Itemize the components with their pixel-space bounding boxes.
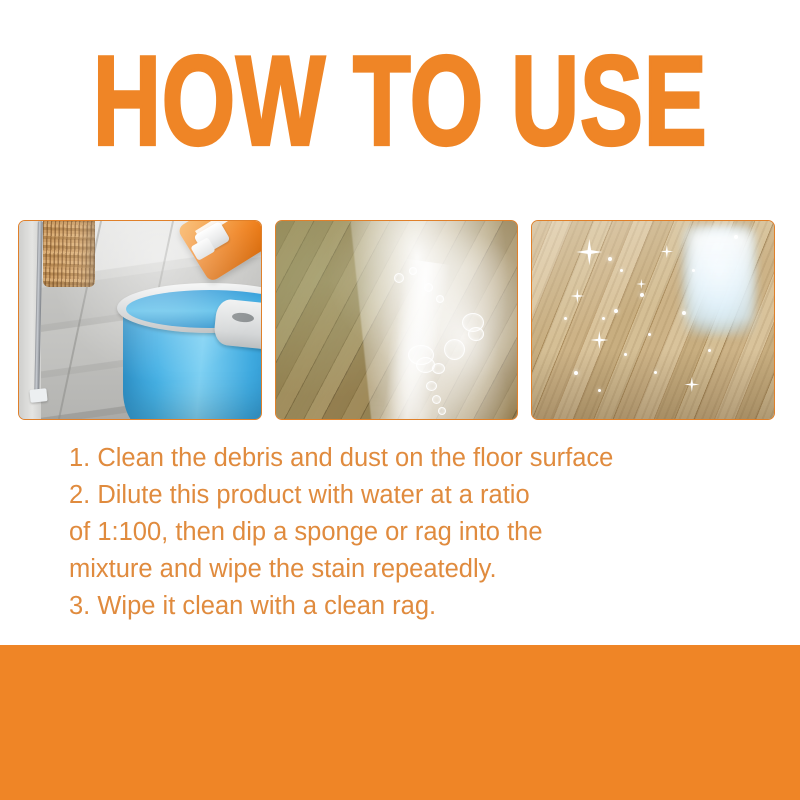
- photo-tile-floor-bucket: [18, 220, 262, 420]
- photo-wood-floor-foam: [275, 220, 519, 420]
- photo-wood-floor-clean: [531, 220, 775, 420]
- instructions-list: 1. Clean the debris and dust on the floo…: [69, 440, 769, 625]
- photo-2-sheen: [276, 221, 518, 419]
- page-title-wrapper: HOW TO USE: [0, 42, 800, 152]
- photo-3-scene: [532, 221, 774, 419]
- photo-strip: [18, 220, 775, 420]
- instruction-line: 3. Wipe it clean with a clean rag.: [69, 588, 769, 625]
- how-to-use-infographic: HOW TO USE: [0, 0, 800, 800]
- instruction-line: 2. Dilute this product with water at a r…: [69, 477, 769, 514]
- instruction-line: of 1:100, then dip a sponge or rag into …: [69, 514, 769, 551]
- photo-1-scene: [19, 221, 261, 419]
- footer-orange-bar: [0, 645, 800, 800]
- instruction-line: mixture and wipe the stain repeatedly.: [69, 551, 769, 588]
- photo-1-light-haze: [19, 221, 261, 419]
- photo-3-shading: [532, 221, 774, 419]
- photo-2-scene: [276, 221, 518, 419]
- instruction-line: 1. Clean the debris and dust on the floo…: [69, 440, 769, 477]
- page-title: HOW TO USE: [93, 42, 708, 161]
